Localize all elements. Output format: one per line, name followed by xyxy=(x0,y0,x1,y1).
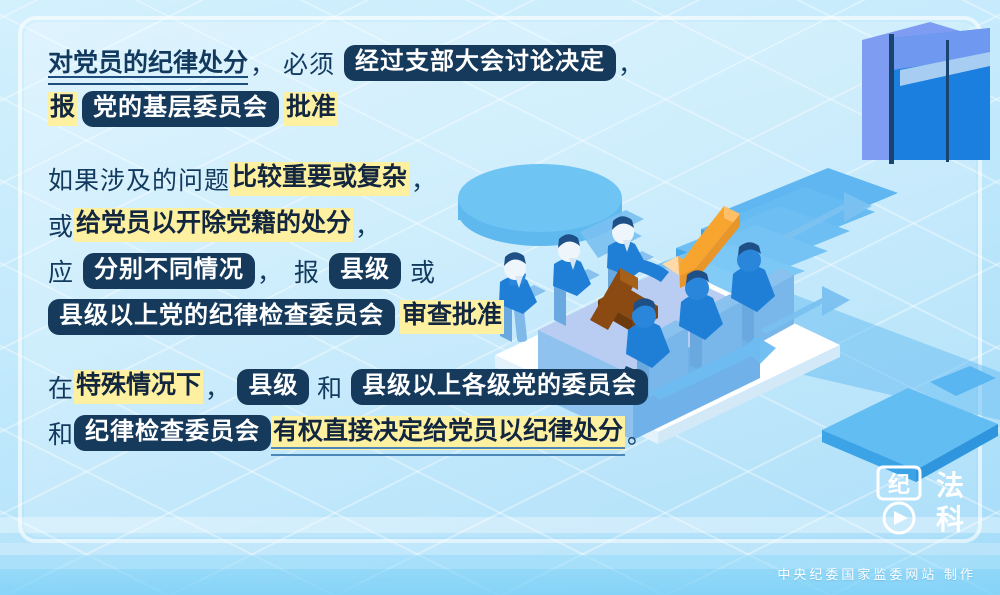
keyword-pill: 纪律检查委员会 xyxy=(74,415,271,451)
punctuation: ， xyxy=(248,45,278,81)
keyword-pill: 县级 xyxy=(329,253,401,289)
svg-text:纪: 纪 xyxy=(888,472,910,497)
highlight-text: 审查批准 xyxy=(400,300,504,333)
keyword-pill: 分别不同情况 xyxy=(83,253,255,289)
plain-text: 必须 xyxy=(283,45,335,81)
punctuation: ， xyxy=(353,207,383,243)
check-mark-shape xyxy=(662,206,740,288)
keyword-pill: 县级以上各级党的委员会 xyxy=(351,369,648,405)
svg-text:科: 科 xyxy=(936,504,964,535)
text-line: 或 给党员以开除党籍的处分 ， xyxy=(48,202,648,248)
staircase-shape xyxy=(602,168,1000,420)
arrow-up-right xyxy=(760,192,872,334)
plain-text: 和 xyxy=(48,415,74,451)
punctuation: ， xyxy=(616,45,646,81)
bottom-band-2 xyxy=(0,543,1000,555)
punctuation: ， xyxy=(255,253,285,289)
plain-text: 或 xyxy=(410,253,436,289)
paragraph-1: 对党员的纪律处分 ， 必须 经过支部大会讨论决定 ， 报 党的基层委员会 批准 xyxy=(48,40,648,132)
keyword-pill: 县级以上党的纪律检查委员会 xyxy=(48,299,395,335)
plain-text: 在 xyxy=(48,369,74,405)
punctuation: 。 xyxy=(625,415,655,451)
keyword-pill: 经过支部大会讨论决定 xyxy=(344,45,616,81)
text-line: 应 分别不同情况 ， 报 县级 或 xyxy=(48,248,648,294)
highlight-text: 报 xyxy=(48,92,77,125)
government-building-icon xyxy=(862,22,990,164)
official-front-2 xyxy=(679,270,742,372)
punctuation: ， xyxy=(409,161,439,197)
highlight-text: 比较重要或复杂 xyxy=(230,162,409,195)
text-line: 和 纪律检查委员会 有权直接决定给党员以纪律处分 。 xyxy=(48,410,648,456)
highlight-text: 批准 xyxy=(284,92,338,125)
text-line: 县级以上党的纪律检查委员会 审查批准 xyxy=(48,294,648,340)
plain-text: 报 xyxy=(294,253,320,289)
text-line: 对党员的纪律处分 ， 必须 经过支部大会讨论决定 ， xyxy=(48,40,648,86)
highlight-text: 给党员以开除党籍的处分 xyxy=(74,208,353,241)
arrow-down-right xyxy=(650,336,776,400)
poster-canvas: 对党员的纪律处分 ， 必须 经过支部大会讨论决定 ， 报 党的基层委员会 批准 … xyxy=(0,0,1000,595)
highlight-text: 特殊情况下 xyxy=(74,370,203,403)
plain-text: 或 xyxy=(48,207,74,243)
svg-text:法: 法 xyxy=(936,470,964,501)
paragraph-3: 在 特殊情况下 ， 县级 和 县级以上各级党的委员会 和 纪律检查委员会 有权直… xyxy=(48,364,648,456)
text-line: 报 党的基层委员会 批准 xyxy=(48,86,648,132)
punctuation: ， xyxy=(203,369,233,405)
bottom-band-1 xyxy=(0,517,1000,533)
credit-line: 中央纪委国家监委网站 制作 xyxy=(777,564,976,583)
highlight-underline-text: 有权直接决定给党员以纪律处分 xyxy=(271,416,625,449)
body-copy: 对党员的纪律处分 ， 必须 经过支部大会讨论决定 ， 报 党的基层委员会 批准 … xyxy=(48,40,648,480)
keyword-pill: 县级 xyxy=(237,369,309,405)
keyword-pill: 党的基层委员会 xyxy=(82,91,279,127)
text-line: 在 特殊情况下 ， 县级 和 县级以上各级党的委员会 xyxy=(48,364,648,410)
emphasis-underline: 对党员的纪律处分 xyxy=(48,43,248,83)
plain-text: 如果涉及的问题 xyxy=(48,161,230,197)
brand-logo-jifa-baike: 纪 法 科 xyxy=(876,465,980,537)
plain-text: 和 xyxy=(317,369,343,405)
paragraph-2: 如果涉及的问题 比较重要或复杂 ， 或 给党员以开除党籍的处分 ， 应 分别不同… xyxy=(48,156,648,340)
plain-text: 应 xyxy=(48,253,74,289)
official-front-3 xyxy=(731,242,794,346)
text-line: 如果涉及的问题 比较重要或复杂 ， xyxy=(48,156,648,202)
